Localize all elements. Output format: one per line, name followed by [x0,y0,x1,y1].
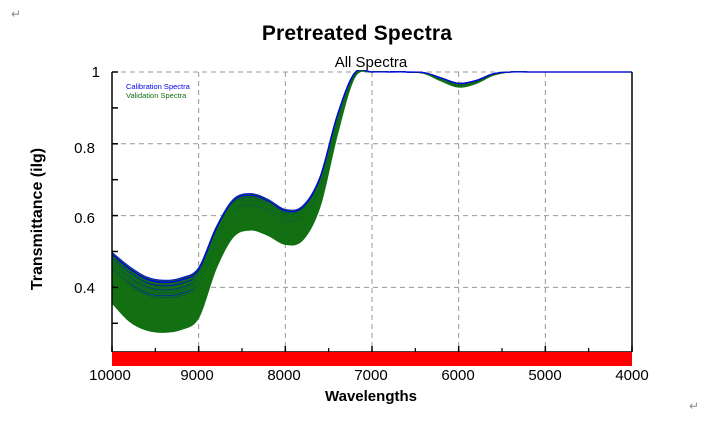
plot-canvas [0,0,714,427]
spectra-figure: ↵ ↵ Pretreated Spectra All Spectra Trans… [0,0,714,427]
wavelength-range-band[interactable] [112,352,632,366]
